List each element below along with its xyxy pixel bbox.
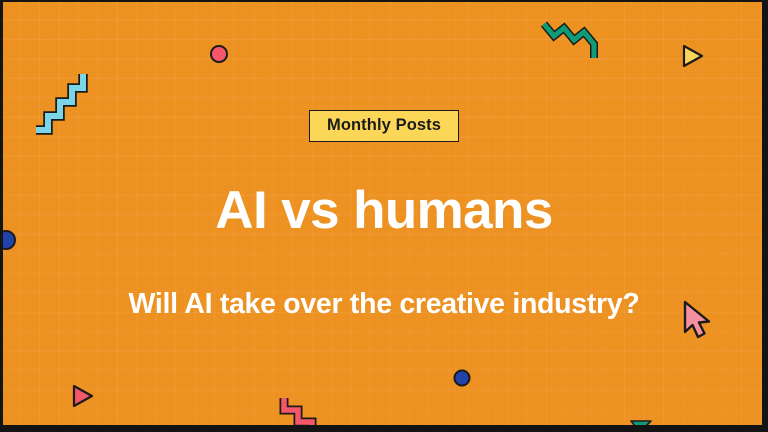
category-badge[interactable]: Monthly Posts [309,110,459,142]
slide-content: Monthly Posts AI vs humans Will AI take … [0,0,768,432]
presentation-slide: Monthly Posts AI vs humans Will AI take … [0,0,768,432]
slide-title: AI vs humans [215,184,552,237]
slide-subtitle: Will AI take over the creative industry? [129,290,640,319]
